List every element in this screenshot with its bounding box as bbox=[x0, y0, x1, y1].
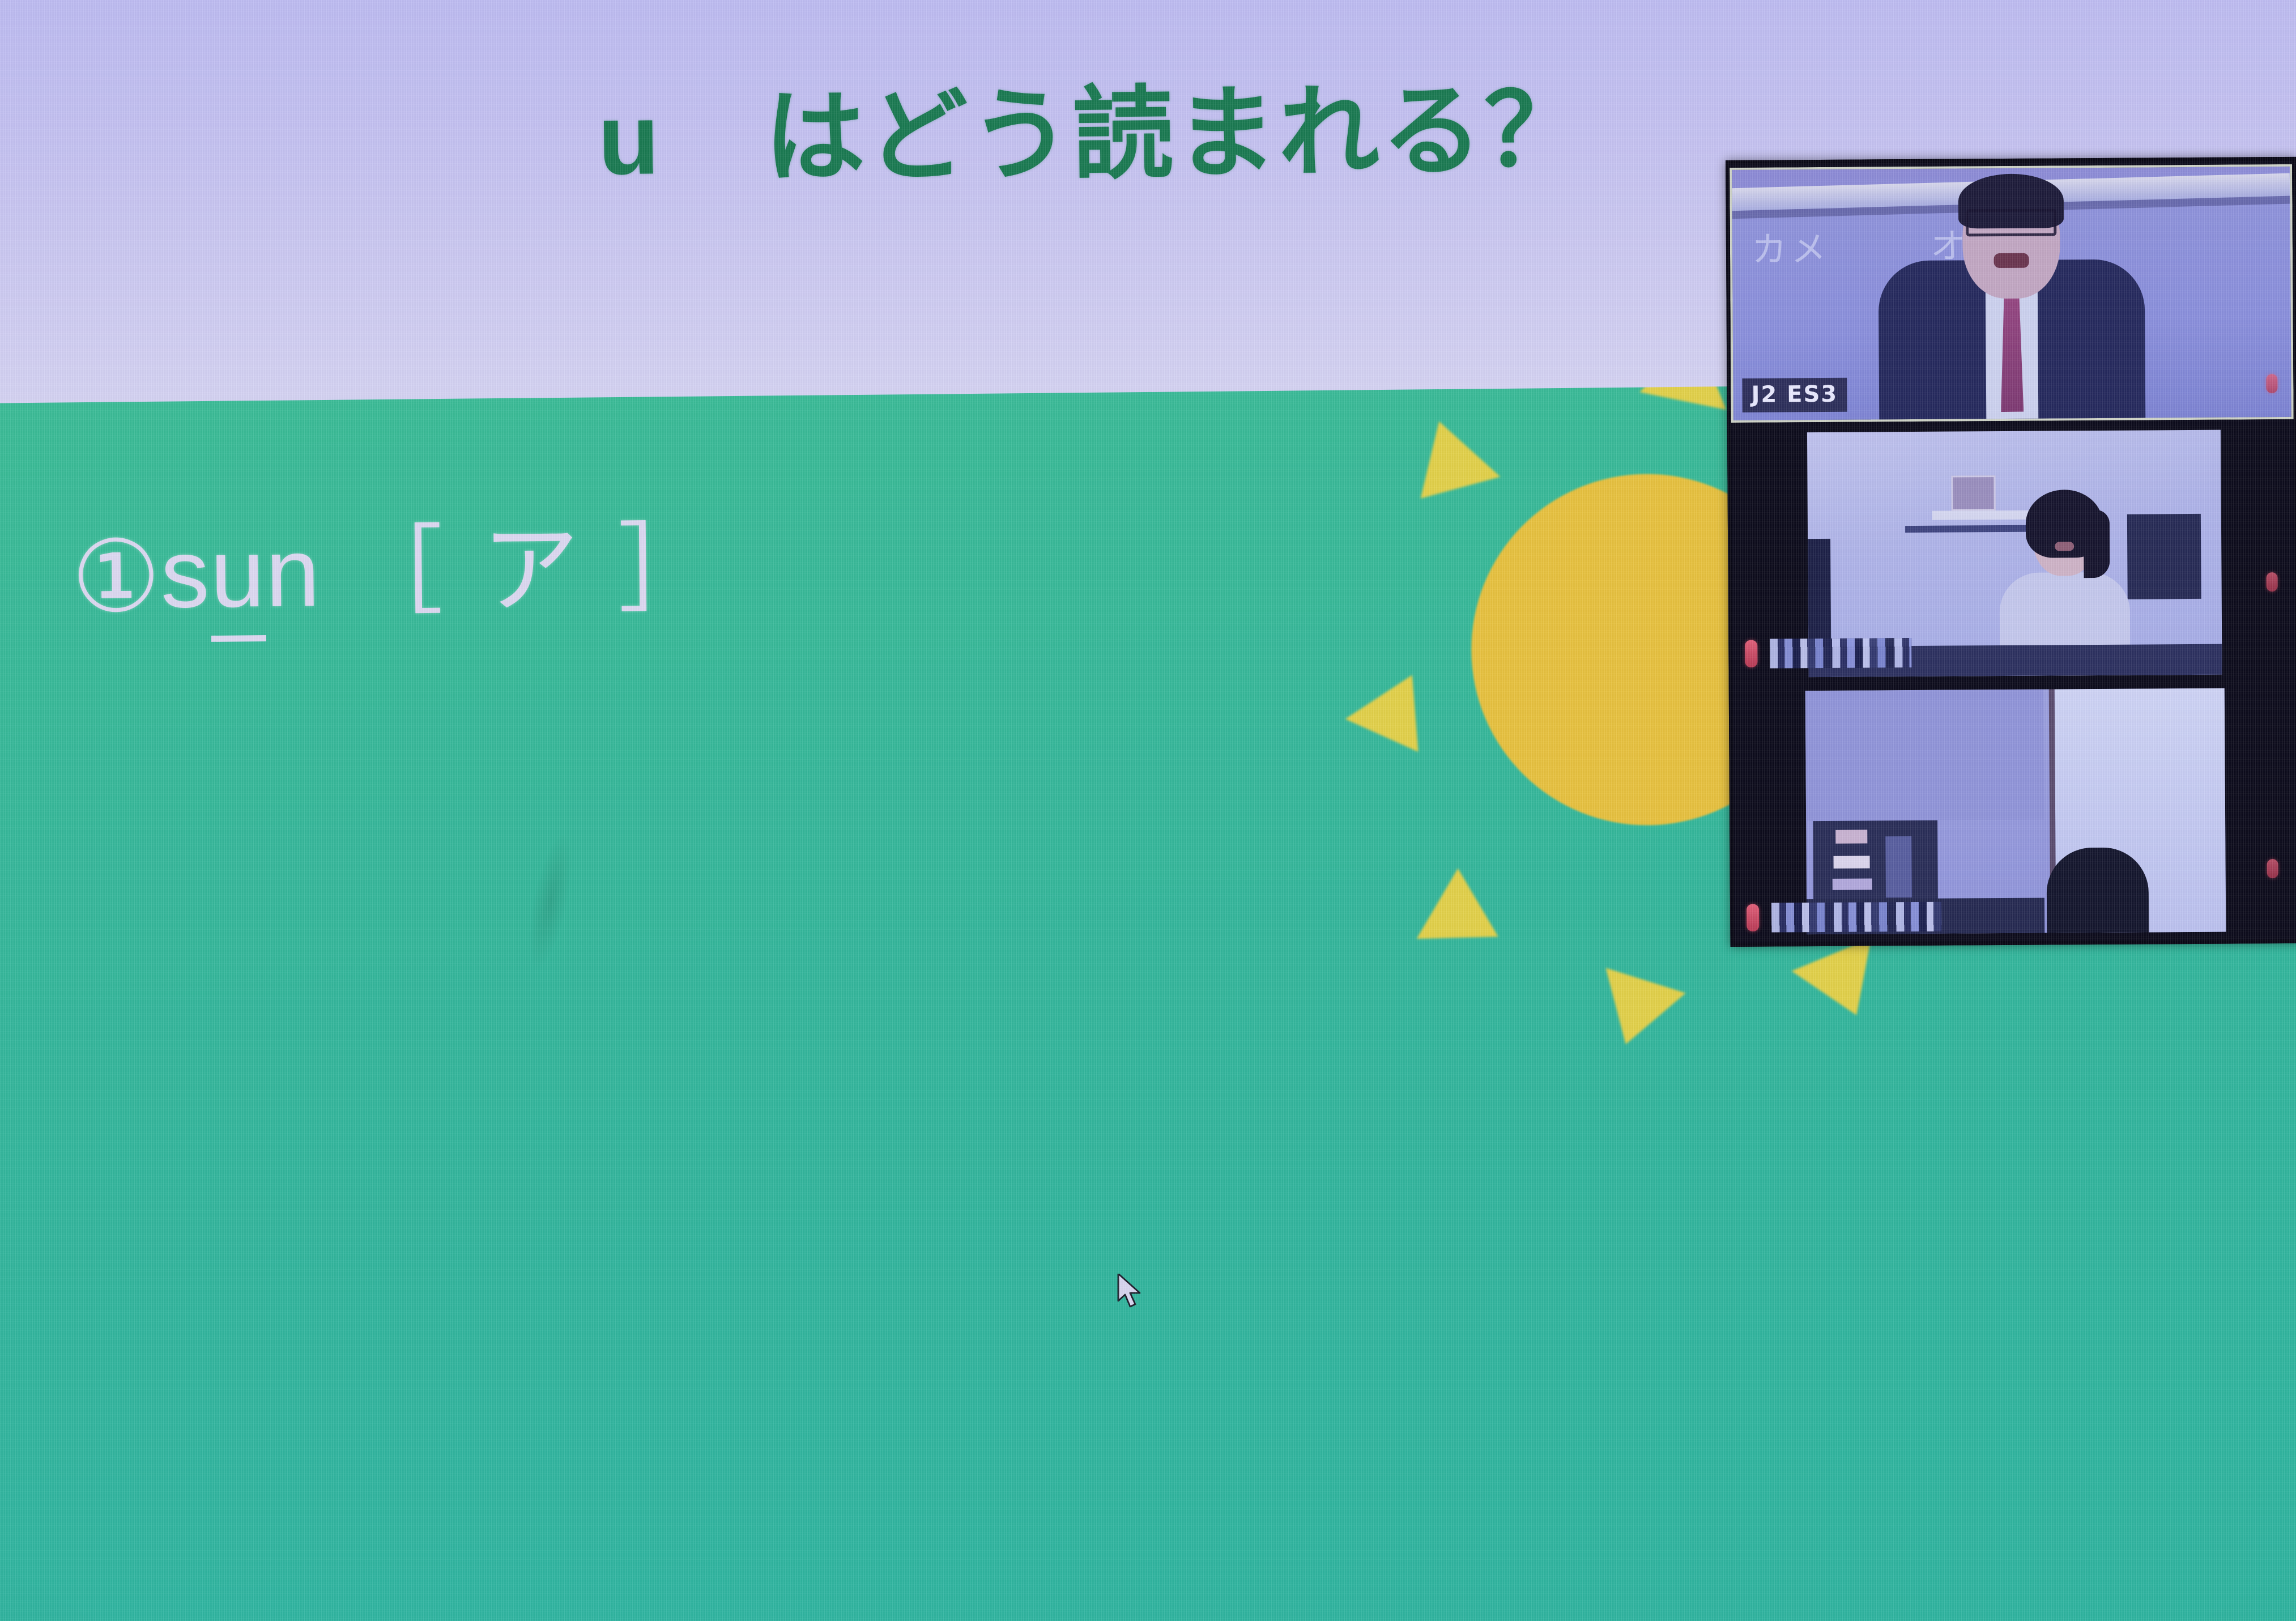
upper-wall bbox=[1805, 690, 2044, 822]
answer-number: ① bbox=[71, 521, 161, 633]
hair-side-2 bbox=[2083, 510, 2110, 578]
participant-figure-2 bbox=[1857, 430, 2222, 677]
shelf-item-b bbox=[1834, 856, 1870, 868]
shelf-item-a bbox=[1835, 829, 1867, 843]
answer-word-underlined: u bbox=[210, 518, 266, 642]
mouth bbox=[1994, 253, 2029, 268]
answer-word-after: n bbox=[265, 518, 321, 627]
answer-line: ①sun［ ア ］ bbox=[71, 520, 722, 627]
participant-name-badge-1: J2 ES3 bbox=[1742, 378, 1847, 412]
mouth-2 bbox=[2055, 542, 2074, 551]
mute-icon-1 bbox=[2266, 374, 2277, 393]
video-tile-1[interactable]: カメ オン 下さい J2 ES3 bbox=[1730, 164, 2294, 423]
mute-icon-2-edge bbox=[2266, 572, 2277, 592]
video-tile-2[interactable] bbox=[1731, 422, 2295, 680]
screenshot-root: ①sun［ ア ］ u はどう読まれる？ カメ オン 下さい bbox=[0, 0, 2296, 1621]
dark-silhouette bbox=[2046, 847, 2149, 933]
video-conference-overlay[interactable]: カメ オン 下さい J2 ES3 bbox=[1726, 157, 2296, 947]
shelf-item-d bbox=[1885, 836, 1912, 897]
participant-name-badge-3 bbox=[1771, 902, 1941, 933]
video-tile-3[interactable] bbox=[1733, 679, 2296, 944]
mouse-pointer-icon bbox=[1117, 1274, 1147, 1310]
mute-icon-3-edge bbox=[2267, 859, 2278, 878]
answer-word: sun bbox=[160, 518, 321, 642]
shelf-item-c bbox=[1833, 878, 1872, 890]
mute-icon-2 bbox=[1745, 640, 1757, 667]
answer-word-before: s bbox=[160, 519, 211, 628]
mute-icon-3 bbox=[1747, 904, 1759, 931]
participant-name-badge-2 bbox=[1770, 638, 1911, 669]
eyeglasses bbox=[1966, 209, 2056, 236]
answer-kana: ［ ア ］ bbox=[345, 514, 722, 626]
webcam-frame-3 bbox=[1805, 688, 2226, 935]
